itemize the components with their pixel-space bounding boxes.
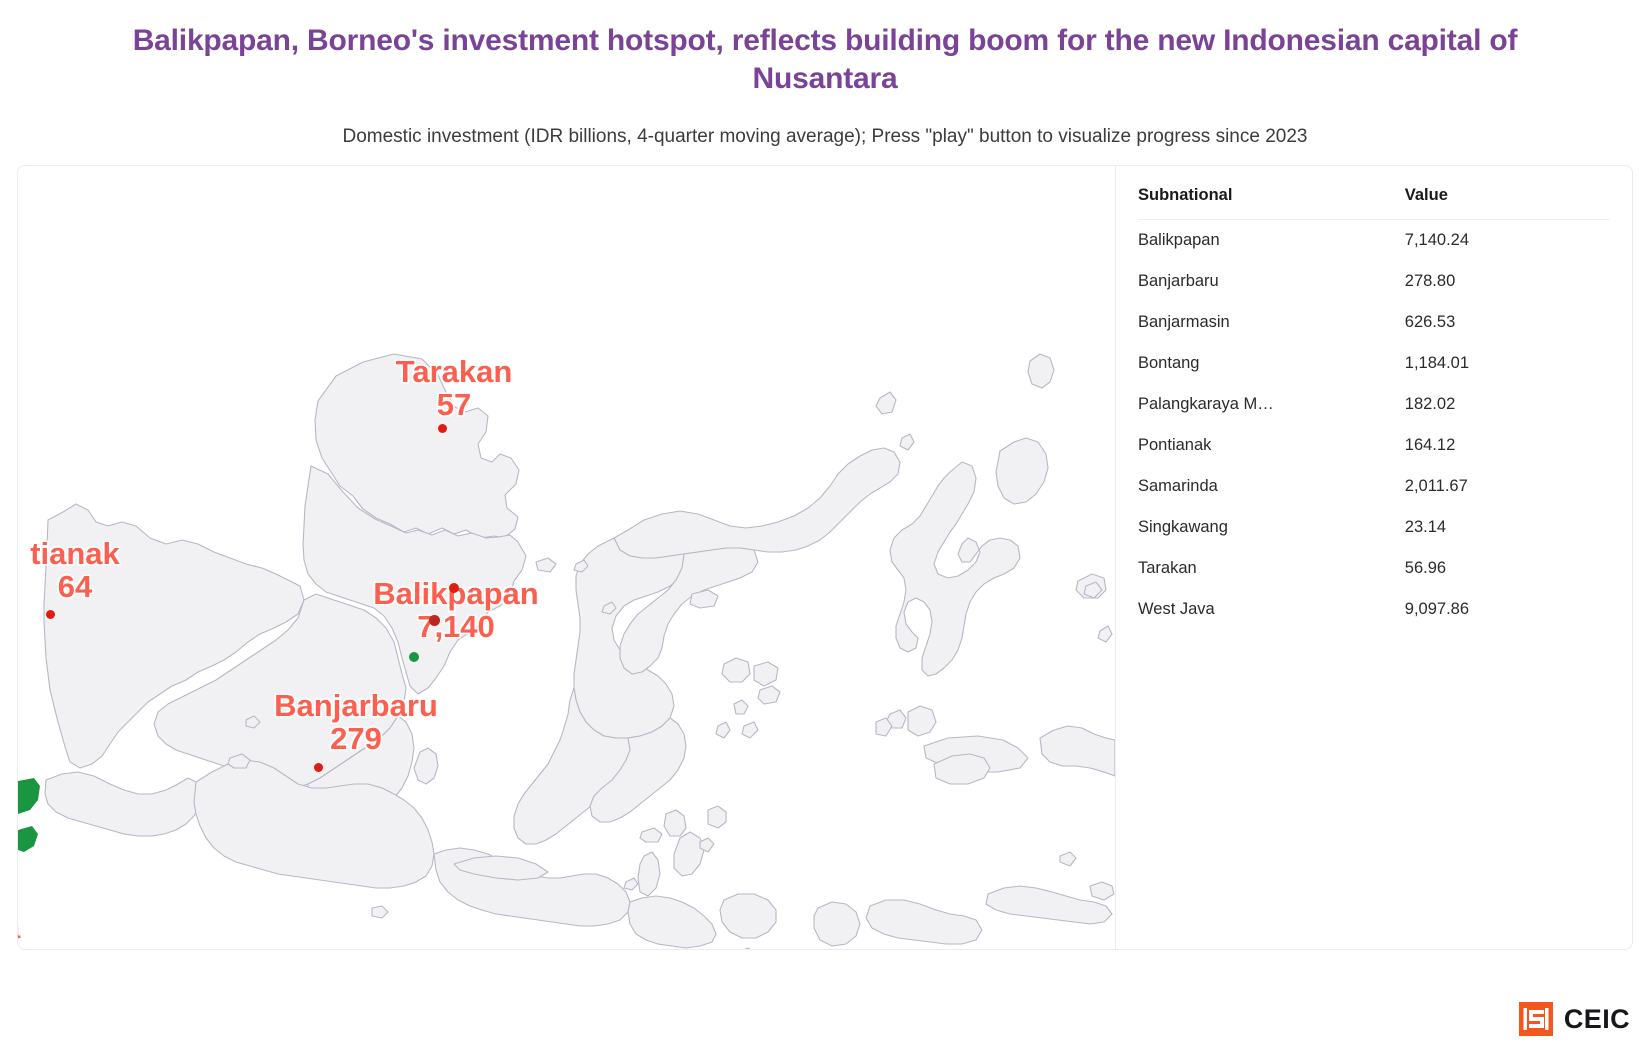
column-header-subnational[interactable]: Subnational [1138, 180, 1405, 220]
island-small-java-2 [640, 828, 662, 842]
chart-header: Balikpapan, Borneo's investment hotspot,… [0, 0, 1650, 149]
cell-subnational: Samarinda [1138, 466, 1405, 507]
cell-value: 7,140.24 [1405, 220, 1610, 262]
page-title: Balikpapan, Borneo's investment hotspot,… [120, 22, 1530, 99]
island-banggai [722, 658, 750, 682]
ceic-logo-text: CEIC [1564, 1006, 1630, 1033]
region-west-java [45, 772, 202, 836]
island-speck-1 [536, 558, 556, 572]
region-central-java [434, 848, 630, 926]
table-row[interactable]: Balikpapan 7,140.24 [1138, 220, 1610, 262]
island-small-java-6 [1060, 852, 1076, 866]
cell-value: 182.02 [1405, 384, 1610, 425]
table-row[interactable]: Bontang 1,184.01 [1138, 343, 1610, 384]
table-row[interactable]: Palangkaraya M… 182.02 [1138, 384, 1610, 425]
cell-value: 23.14 [1405, 507, 1610, 548]
map-container[interactable]: Tarakan 57 Balikpapan 7,140 Banjarbaru 2… [18, 166, 1115, 949]
island-sula-b [734, 700, 748, 714]
island-muna [664, 810, 686, 836]
cell-subnational: Banjarmasin [1138, 302, 1405, 343]
highlight-west-java [18, 778, 40, 852]
column-header-value[interactable]: Value [1405, 180, 1610, 220]
cell-subnational: Balikpapan [1138, 220, 1405, 262]
island-small-4 [1098, 626, 1112, 642]
cell-subnational: Palangkaraya M… [1138, 384, 1405, 425]
island-wowoni [708, 806, 726, 828]
cell-subnational: Pontianak [1138, 425, 1405, 466]
island-sumbawa [866, 900, 982, 944]
cell-value: 278.80 [1405, 261, 1610, 302]
island-alor [1090, 882, 1114, 900]
table-row[interactable]: Singkawang 23.14 [1138, 507, 1610, 548]
table-row[interactable]: Samarinda 2,011.67 [1138, 466, 1610, 507]
island-sula-c [716, 722, 730, 738]
island-peleng [754, 662, 778, 686]
island-laut [414, 748, 438, 784]
table-header-row: Subnational Value [1138, 180, 1610, 220]
island-bacan-a [908, 706, 936, 736]
island-sula-d [742, 722, 758, 738]
region-north-sulawesi [614, 448, 900, 558]
cell-value: 1,184.01 [1405, 343, 1610, 384]
cell-value: 2,011.67 [1405, 466, 1610, 507]
island-bali-small [736, 948, 756, 949]
island-sula-a [758, 686, 780, 704]
footer-branding: CEIC [1519, 1002, 1630, 1036]
region-east-java [628, 896, 716, 948]
island-bali [720, 894, 776, 938]
cell-value: 9,097.86 [1405, 589, 1610, 630]
table-row[interactable]: West Java 9,097.86 [1138, 589, 1610, 630]
cell-value: 626.53 [1405, 302, 1610, 343]
island-small-2 [900, 434, 914, 450]
island-small-java-4 [372, 906, 388, 918]
data-table-panel[interactable]: Subnational Value Balikpapan 7,140.24 Ba… [1116, 166, 1632, 949]
region-papua [1040, 726, 1115, 776]
island-morotai [1028, 354, 1054, 388]
visualization-panel: Tarakan 57 Balikpapan 7,140 Banjarbaru 2… [17, 165, 1633, 950]
cell-subnational: Banjarbaru [1138, 261, 1405, 302]
table-row[interactable]: Tarakan 56.96 [1138, 548, 1610, 589]
island-lombok [814, 902, 860, 946]
cell-subnational: Singkawang [1138, 507, 1405, 548]
chart-subtitle: Domestic investment (IDR billions, 4-qua… [120, 125, 1530, 150]
table-body: Balikpapan 7,140.24 Banjarbaru 278.80 Ba… [1138, 220, 1610, 631]
island-buton [674, 832, 704, 876]
island-small-java-7 [624, 878, 638, 890]
cell-value: 56.96 [1405, 548, 1610, 589]
cell-subnational: Bontang [1138, 343, 1405, 384]
cell-subnational: West Java [1138, 589, 1405, 630]
table-row[interactable]: Banjarbaru 278.80 [1138, 261, 1610, 302]
cell-value: 164.12 [1405, 425, 1610, 466]
table-row[interactable]: Banjarmasin 626.53 [1138, 302, 1610, 343]
island-halmahera-west [890, 462, 1020, 676]
chart-page: Balikpapan, Borneo's investment hotspot,… [0, 0, 1650, 1050]
cell-subnational: Tarakan [1138, 548, 1405, 589]
table-row[interactable]: Pontianak 164.12 [1138, 425, 1610, 466]
ceic-logo-icon [1519, 1002, 1553, 1036]
subnational-value-table: Subnational Value Balikpapan 7,140.24 Ba… [1138, 180, 1610, 630]
island-small-1 [876, 392, 896, 414]
indonesia-map[interactable] [18, 166, 1115, 949]
island-selayar [638, 852, 660, 896]
island-halmahera [996, 438, 1048, 504]
